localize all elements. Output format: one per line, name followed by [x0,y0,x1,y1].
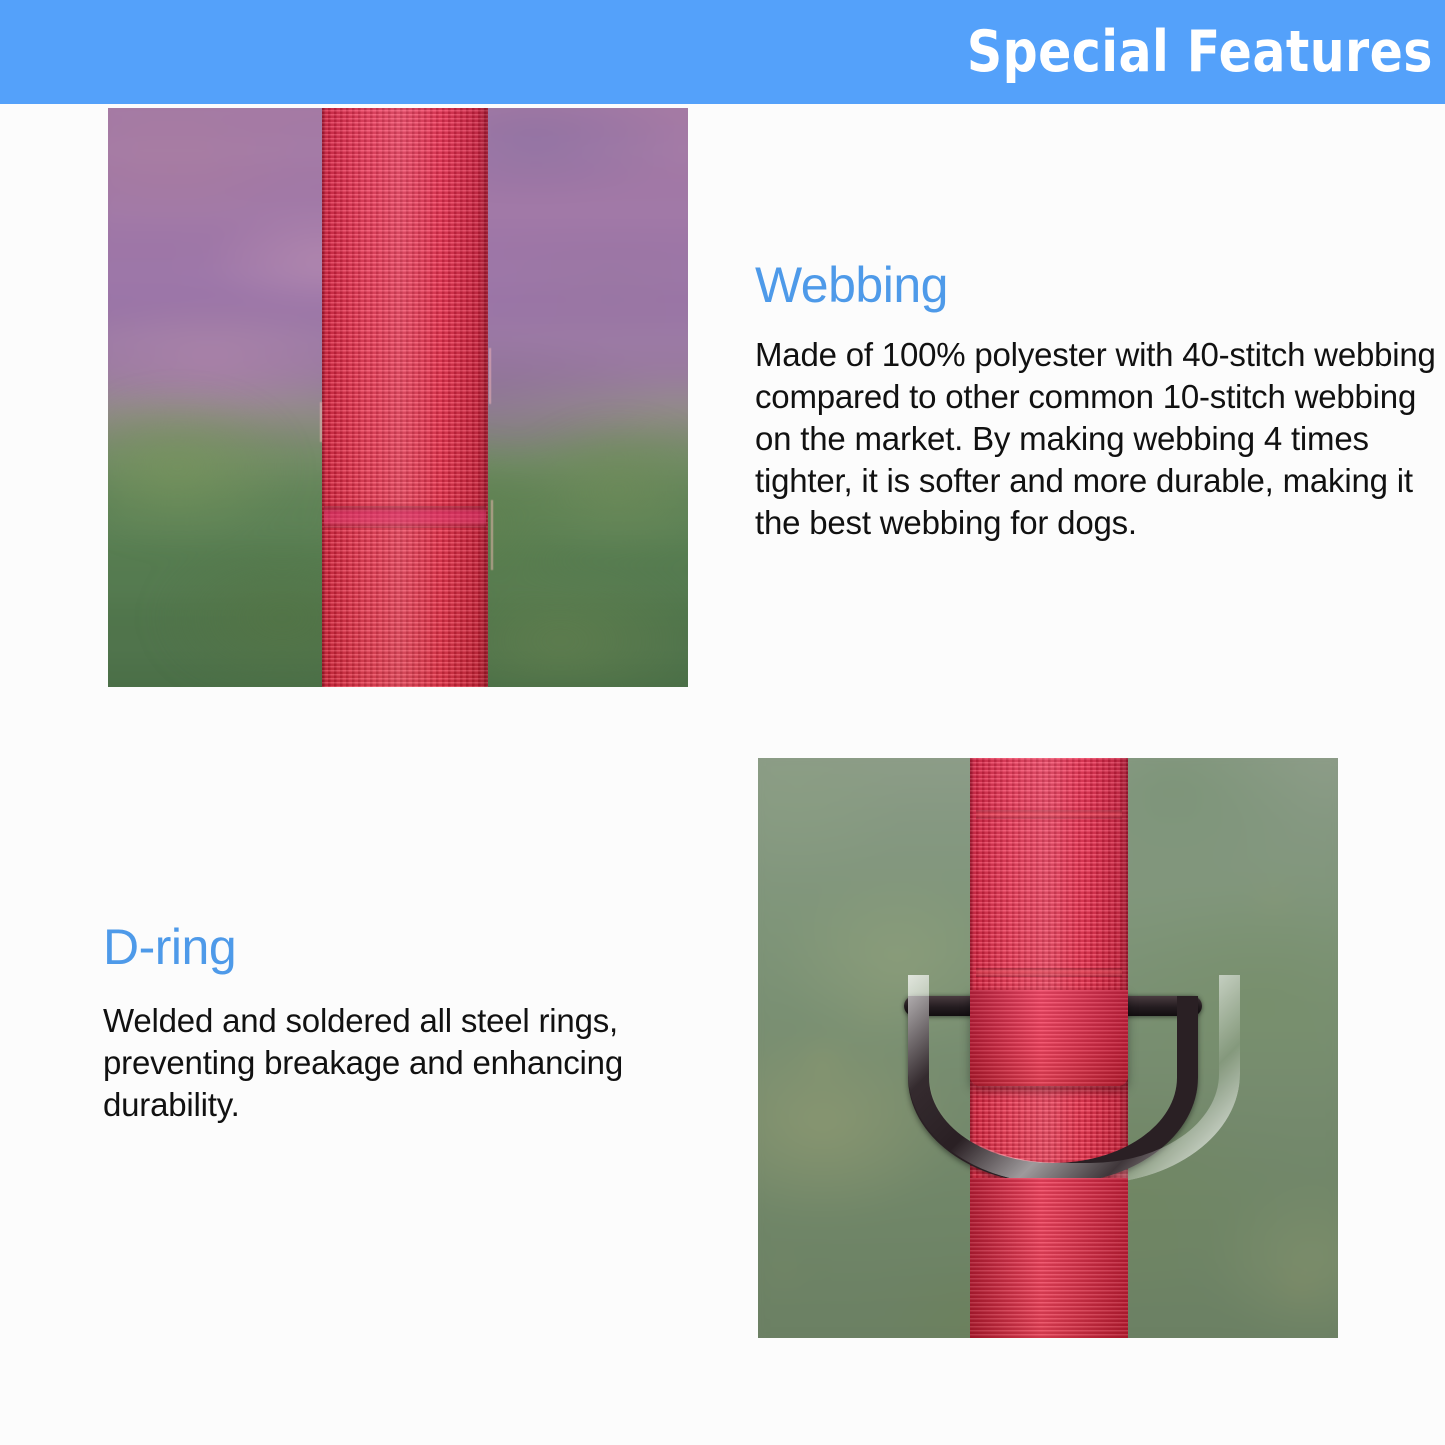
webbing-fray-thread [491,500,493,570]
special-features-page: Special Features Webbing Made of 100% po… [0,0,1445,1445]
webbing-fray-thread [320,402,322,442]
webbing-stitch-line [976,810,1122,819]
special-features-banner: Special Features [0,0,1445,104]
d-ring-closeup-photo [758,758,1338,1338]
banner-title: Special Features [967,24,1445,81]
webbing-description: Made of 100% polyester with 40-stitch we… [755,334,1445,544]
d-ring-heading: D-ring [103,920,713,974]
webbing-strap-lower [970,1178,1128,1338]
webbing-seam [324,506,486,528]
webbing-closeup-photo [108,108,688,687]
webbing-heading: Webbing [755,258,1445,312]
webbing-fray-thread [489,348,491,404]
webbing-loop-over-ring [970,990,1128,1086]
d-ring-text-block: D-ring Welded and soldered all steel rin… [103,920,713,1126]
webbing-text-block: Webbing Made of 100% polyester with 40-s… [755,258,1445,544]
webbing-stitch-line [976,968,1122,977]
red-webbing-strap [322,108,488,687]
d-ring-description: Welded and soldered all steel rings, pre… [103,1000,713,1126]
